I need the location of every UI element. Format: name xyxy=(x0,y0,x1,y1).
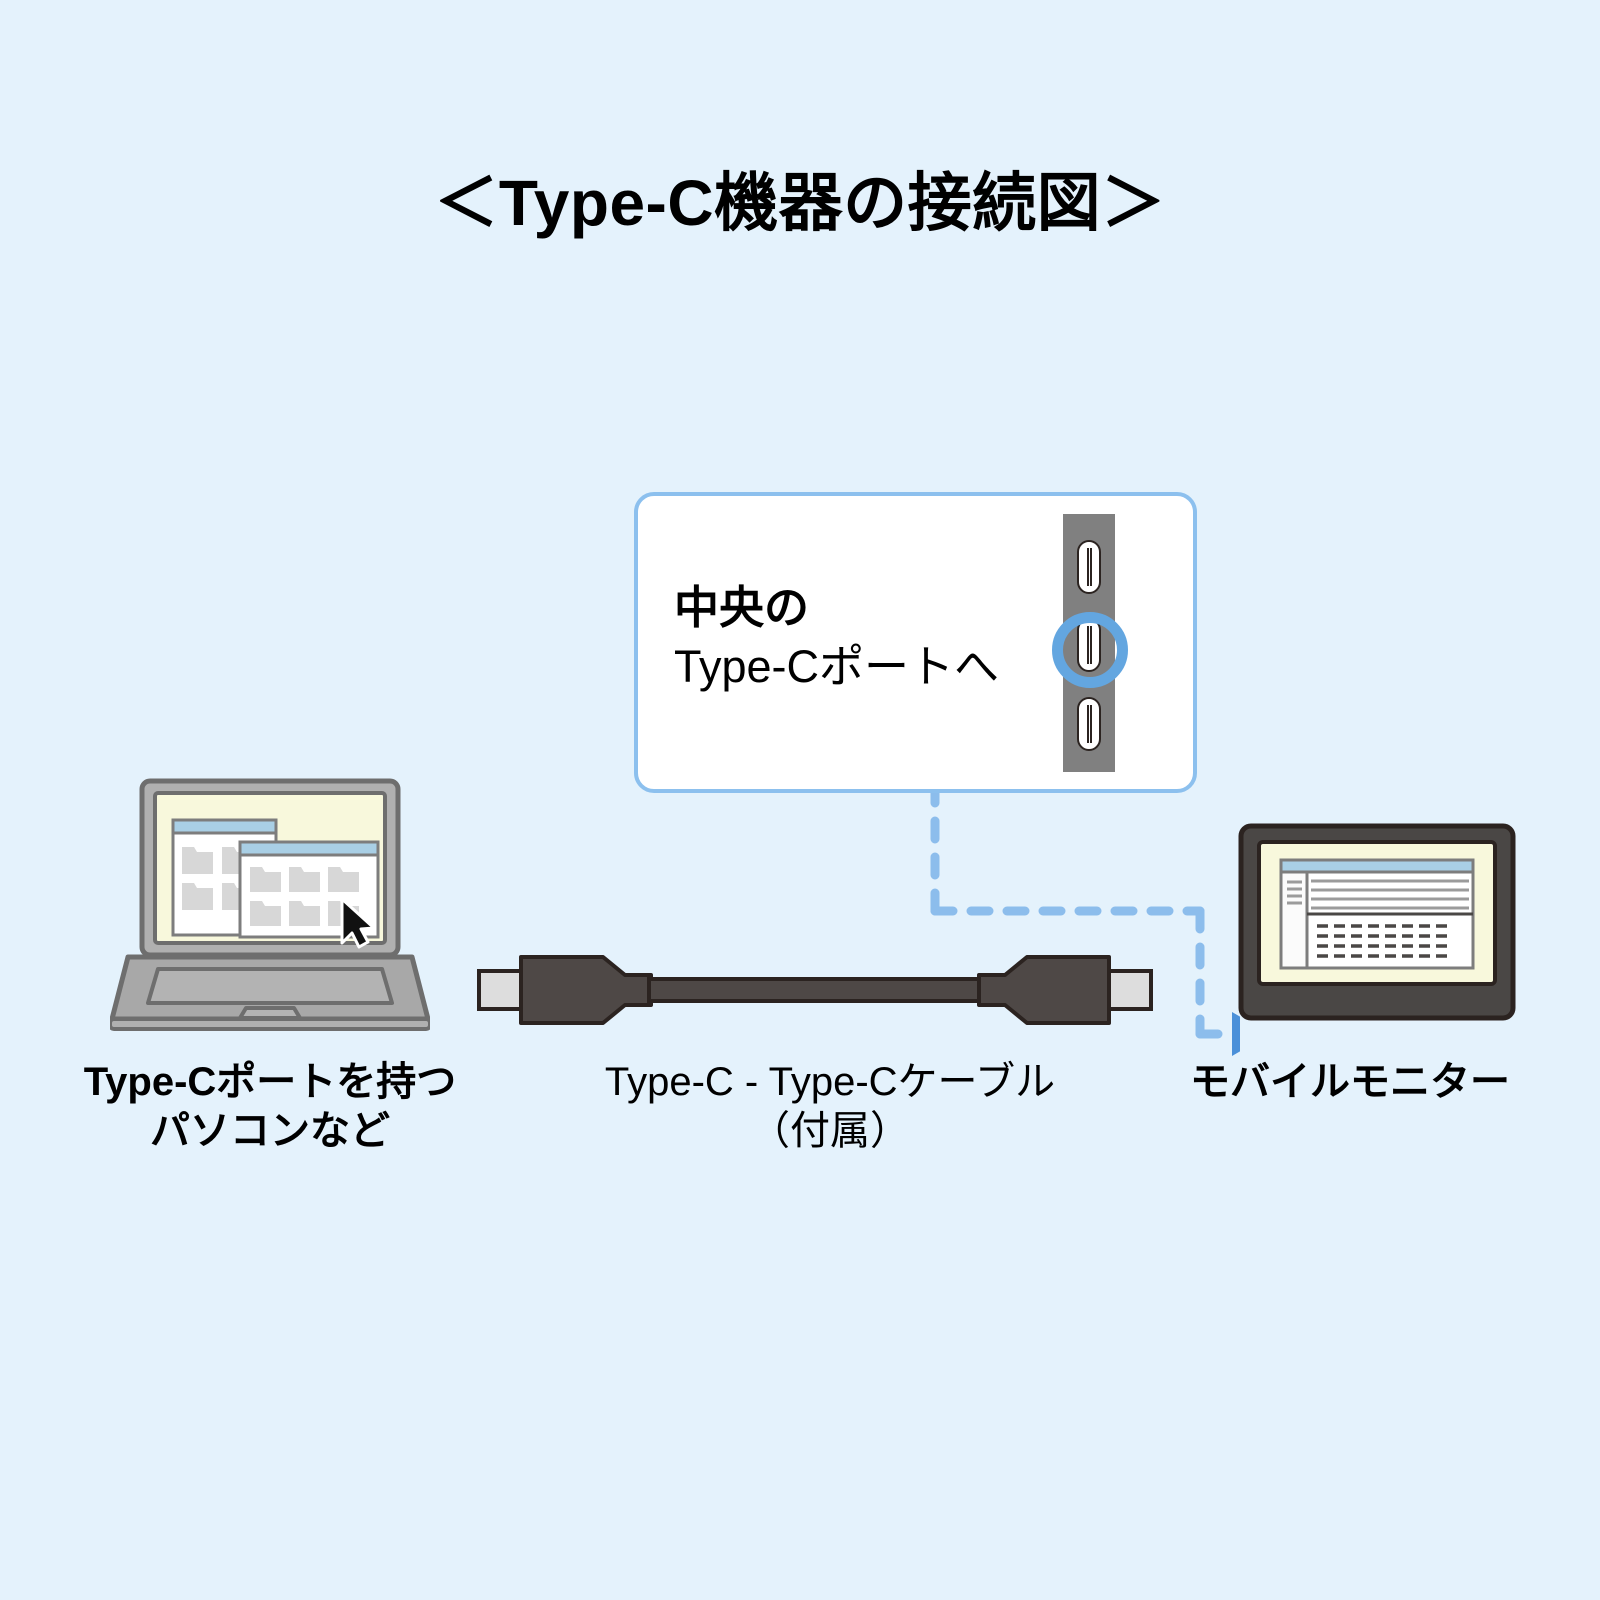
usb-c-port-bottom xyxy=(1077,697,1101,751)
port-highlight-ring-icon xyxy=(1052,612,1128,688)
cable-connector-right xyxy=(979,957,1151,1023)
caption-laptop-line-1: Type-Cポートを持つ xyxy=(20,1058,520,1107)
caption-cable-line-2: （付属） xyxy=(530,1107,1130,1156)
caption-laptop: Type-Cポートを持つ パソコンなど xyxy=(20,1058,520,1156)
cable-wire xyxy=(649,979,983,1001)
callout-text: 中央の Type-Cポートへ xyxy=(674,578,999,697)
monitor-document-window xyxy=(1281,860,1473,968)
laptop-front-edge xyxy=(110,1019,430,1029)
diagram-canvas: ＜Type-C機器の接続図＞ 中央の Type-Cポートへ xyxy=(0,0,1600,1600)
laptop-window-front xyxy=(240,842,378,947)
caption-cable-line-1: Type-C - Type-Cケーブル xyxy=(530,1058,1130,1107)
usb-c-cable-illustration xyxy=(465,945,1165,1035)
caption-monitor-line-1: モバイルモニター xyxy=(1140,1058,1560,1107)
laptop-trackpad xyxy=(240,1008,300,1018)
caption-cable: Type-C - Type-Cケーブル （付属） xyxy=(530,1058,1130,1156)
page-title: ＜Type-C機器の接続図＞ xyxy=(0,168,1600,238)
laptop-illustration xyxy=(110,775,430,1040)
cable-connector-left xyxy=(479,957,651,1023)
caption-laptop-line-2: パソコンなど xyxy=(20,1107,520,1156)
usb-c-port-top xyxy=(1077,540,1101,594)
mobile-monitor-illustration xyxy=(1237,822,1517,1022)
caption-monitor: モバイルモニター xyxy=(1140,1058,1560,1107)
callout-line-1: 中央の xyxy=(674,578,999,637)
laptop-keyboard-area xyxy=(148,969,392,1003)
callout-line-2: Type-Cポートへ xyxy=(674,637,999,696)
